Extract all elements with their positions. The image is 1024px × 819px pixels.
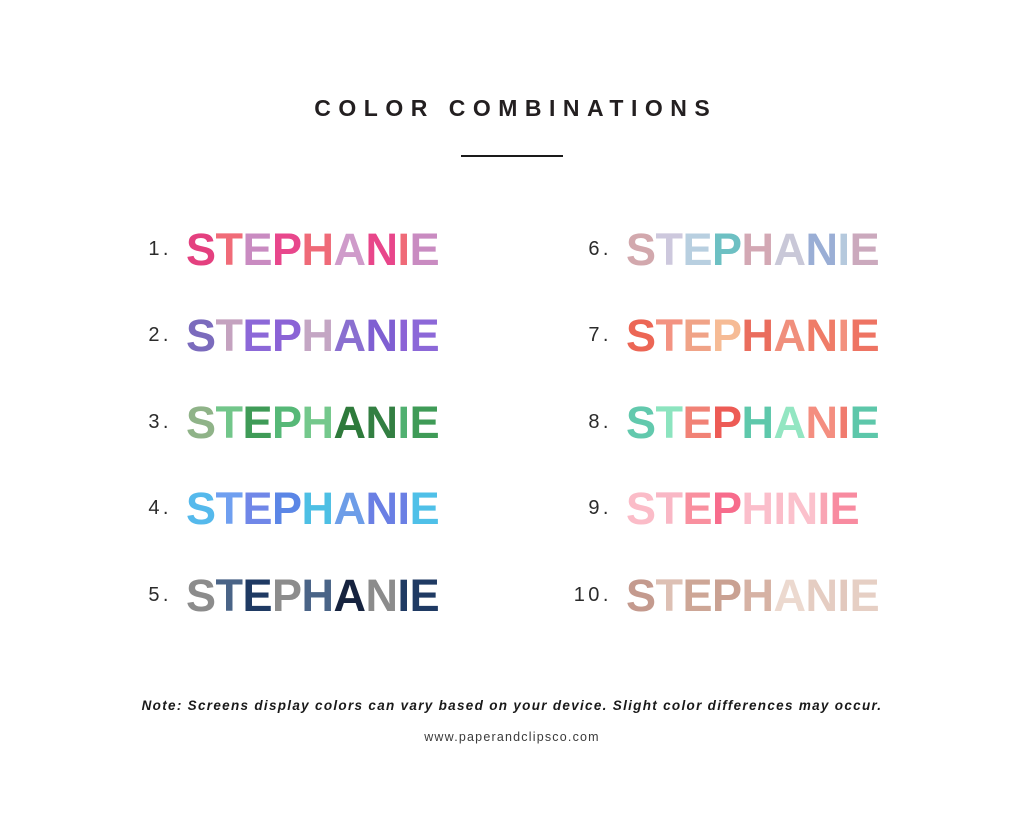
name-letter: I	[398, 400, 410, 445]
name-letter: I	[818, 486, 830, 531]
name-letter: A	[334, 573, 366, 618]
name-letter: H	[302, 486, 334, 531]
name-letter: N	[786, 486, 818, 531]
name-letter: E	[850, 313, 880, 358]
name-letter: H	[302, 400, 334, 445]
combinations-column-left: 1.STEPHANIE2.STEPHANIE3.STEPHANIE4.STEPH…	[0, 206, 512, 639]
name-letter: H	[302, 227, 334, 272]
combination-index: 8.	[564, 411, 626, 434]
name-sample: STEPHANIE	[186, 573, 439, 618]
combination-index: 9.	[564, 497, 626, 520]
page-title: COLOR COMBINATIONS	[0, 0, 1024, 122]
name-sample: STEPHANIE	[186, 400, 439, 445]
color-combination-row[interactable]: 9.STEPHINIE	[564, 466, 1024, 553]
title-divider	[461, 155, 563, 157]
combination-index: 2.	[138, 324, 186, 347]
name-sample: STEPHANIE	[626, 227, 879, 272]
combination-index: 5.	[138, 584, 186, 607]
name-sample: STEPHANIE	[186, 486, 439, 531]
name-letter: H	[302, 573, 334, 618]
page-header: COLOR COMBINATIONS	[0, 0, 1024, 157]
name-letter: A	[334, 313, 366, 358]
name-letter: E	[683, 400, 713, 445]
name-letter: E	[683, 486, 713, 531]
name-letter: T	[656, 313, 683, 358]
name-letter: H	[742, 486, 774, 531]
name-letter: T	[216, 400, 243, 445]
name-letter: T	[656, 400, 683, 445]
combination-index: 10.	[564, 584, 626, 607]
name-letter: S	[626, 573, 656, 618]
page-footer: Note: Screens display colors can vary ba…	[0, 698, 1024, 744]
color-combination-row[interactable]: 10.STEPHANIE	[564, 552, 1024, 639]
name-letter: I	[838, 400, 850, 445]
name-letter: P	[272, 573, 302, 618]
name-letter: I	[774, 486, 786, 531]
name-letter: I	[838, 313, 850, 358]
name-letter: T	[216, 486, 243, 531]
name-letter: T	[656, 573, 683, 618]
name-letter: P	[712, 400, 742, 445]
name-letter: E	[683, 573, 713, 618]
combination-index: 4.	[138, 497, 186, 520]
name-letter: H	[742, 313, 774, 358]
name-letter: E	[410, 227, 440, 272]
color-combination-row[interactable]: 1.STEPHANIE	[138, 206, 512, 293]
name-letter: T	[216, 573, 243, 618]
name-letter: I	[398, 573, 410, 618]
name-sample: STEPHANIE	[626, 313, 879, 358]
color-combinations-grid: 1.STEPHANIE2.STEPHANIE3.STEPHANIE4.STEPH…	[0, 206, 1024, 639]
name-letter: S	[626, 400, 656, 445]
name-letter: T	[216, 227, 243, 272]
name-letter: E	[243, 573, 273, 618]
name-letter: E	[243, 486, 273, 531]
footer-url: www.paperandclipsco.com	[0, 730, 1024, 744]
color-combination-row[interactable]: 4.STEPHANIE	[138, 466, 512, 553]
name-letter: E	[410, 486, 440, 531]
name-letter: P	[712, 573, 742, 618]
name-sample: STEPHANIE	[186, 313, 439, 358]
name-letter: S	[186, 486, 216, 531]
name-letter: I	[398, 486, 410, 531]
name-letter: E	[243, 227, 273, 272]
name-letter: N	[366, 486, 398, 531]
color-combination-row[interactable]: 7.STEPHANIE	[564, 293, 1024, 380]
name-letter: S	[186, 313, 216, 358]
name-letter: S	[626, 227, 656, 272]
name-letter: I	[398, 227, 410, 272]
name-letter: T	[656, 227, 683, 272]
name-letter: P	[272, 227, 302, 272]
name-letter: E	[850, 400, 880, 445]
name-letter: N	[366, 313, 398, 358]
combinations-column-right: 6.STEPHANIE7.STEPHANIE8.STEPHANIE9.STEPH…	[512, 206, 1024, 639]
name-letter: H	[742, 227, 774, 272]
color-combination-row[interactable]: 6.STEPHANIE	[564, 206, 1024, 293]
name-letter: P	[272, 486, 302, 531]
name-letter: T	[216, 313, 243, 358]
name-letter: I	[838, 573, 850, 618]
name-letter: A	[334, 227, 366, 272]
name-letter: H	[742, 573, 774, 618]
name-letter: N	[806, 227, 838, 272]
name-letter: E	[243, 400, 273, 445]
name-letter: A	[774, 227, 806, 272]
name-letter: P	[712, 313, 742, 358]
combination-index: 3.	[138, 411, 186, 434]
name-letter: N	[806, 313, 838, 358]
name-letter: E	[850, 573, 880, 618]
name-letter: E	[410, 573, 440, 618]
combination-index: 7.	[564, 324, 626, 347]
name-letter: H	[742, 400, 774, 445]
name-letter: S	[186, 573, 216, 618]
color-combination-row[interactable]: 2.STEPHANIE	[138, 293, 512, 380]
name-letter: A	[774, 313, 806, 358]
name-letter: N	[806, 400, 838, 445]
name-letter: P	[272, 400, 302, 445]
name-letter: A	[774, 400, 806, 445]
name-letter: E	[683, 227, 713, 272]
name-letter: E	[850, 227, 880, 272]
name-letter: H	[302, 313, 334, 358]
name-letter: N	[366, 573, 398, 618]
name-letter: S	[186, 400, 216, 445]
name-letter: I	[398, 313, 410, 358]
name-letter: E	[410, 400, 440, 445]
name-letter: E	[830, 486, 860, 531]
color-combination-row[interactable]: 3.STEPHANIE	[138, 379, 512, 466]
name-letter: T	[656, 486, 683, 531]
combination-index: 1.	[138, 238, 186, 261]
name-sample: STEPHANIE	[186, 227, 439, 272]
name-letter: A	[334, 486, 366, 531]
name-letter: N	[366, 400, 398, 445]
name-letter: P	[712, 227, 742, 272]
name-letter: E	[683, 313, 713, 358]
name-letter: N	[806, 573, 838, 618]
name-letter: P	[272, 313, 302, 358]
name-letter: N	[366, 227, 398, 272]
name-letter: S	[186, 227, 216, 272]
combination-index: 6.	[564, 238, 626, 261]
name-letter: E	[243, 313, 273, 358]
name-sample: STEPHANIE	[626, 573, 879, 618]
name-letter: E	[410, 313, 440, 358]
name-letter: A	[334, 400, 366, 445]
name-letter: S	[626, 313, 656, 358]
name-sample: STEPHINIE	[626, 486, 859, 531]
name-letter: S	[626, 486, 656, 531]
color-combination-row[interactable]: 5.STEPHANIE	[138, 552, 512, 639]
footer-note: Note: Screens display colors can vary ba…	[0, 698, 1024, 713]
color-combination-row[interactable]: 8.STEPHANIE	[564, 379, 1024, 466]
name-letter: A	[774, 573, 806, 618]
name-sample: STEPHANIE	[626, 400, 879, 445]
name-letter: I	[838, 227, 850, 272]
name-letter: P	[712, 486, 742, 531]
